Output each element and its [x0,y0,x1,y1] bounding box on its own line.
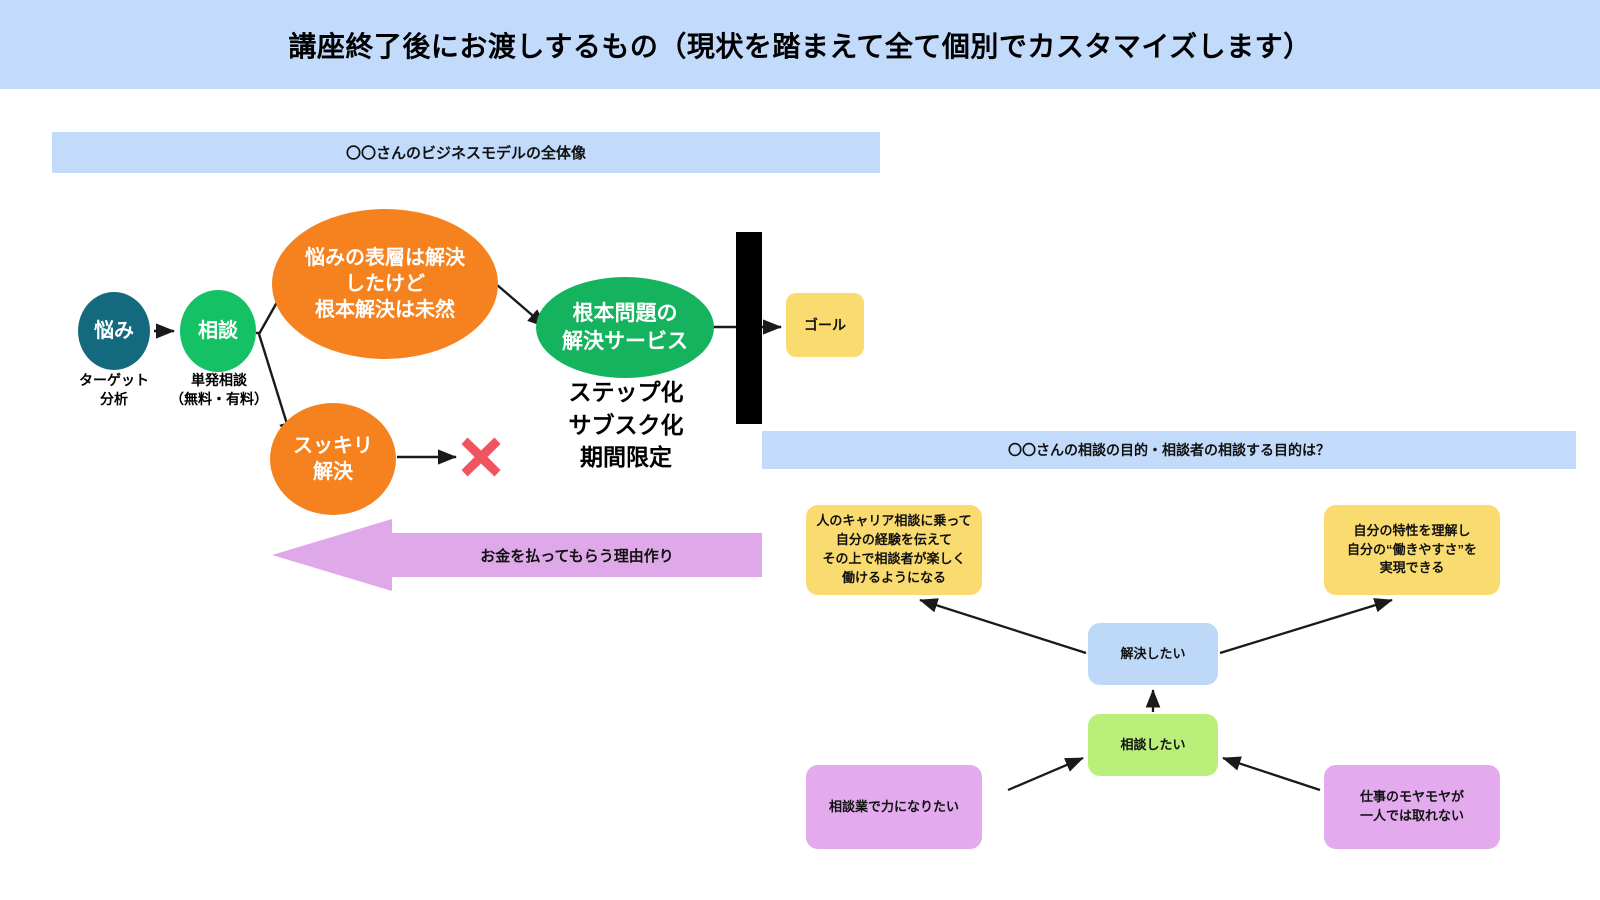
right-section-header-bar: 〇〇さんの相談の目的・相談者の相談する目的は？ [762,431,1576,469]
black-barrier-icon [736,232,762,424]
node-surface-problem[interactable]: 悩みの表層は解決 したけど 根本解決は未然 [272,209,498,359]
node-consult-label: 相談 [198,318,238,344]
edge-solve-to-career [920,600,1086,653]
left-section-header-label: 〇〇さんのビジネスモデルの全体像 [346,142,586,163]
node-clean-resolution[interactable]: スッキリ 解決 [270,403,396,515]
node-root-solution-service[interactable]: 根本問題の 解決サービス [536,277,714,378]
node-consult[interactable]: 相談 [180,290,256,372]
payment-reason-arrow-label: お金を払ってもらう理由作り [397,519,757,591]
node-worry[interactable]: 悩み [78,292,150,370]
edge-help-to-consult [1008,758,1083,790]
node-career-consulting[interactable]: 人のキャリア相談に乗って 自分の経験を伝えて その上で相談者が楽しく 働けるよう… [806,505,982,595]
left-section-header-bar: 〇〇さんのビジネスモデルの全体像 [52,132,880,173]
node-goal[interactable]: ゴール [786,293,864,357]
node-root-solution-service-caption: ステップ化 サブスク化 期間限定 [530,376,722,474]
page-title: 講座終了後にお渡しするもの（現状を踏まえて全て個別でカスタマイズします） [288,25,1311,65]
edge-solve-to-traits [1220,600,1392,653]
node-goal-label: ゴール [804,316,846,334]
node-want-to-help[interactable]: 相談業で力になりたい [806,765,982,849]
node-surface-problem-label: 悩みの表層は解決 したけど 根本解決は未然 [305,245,465,323]
red-x-icon [461,437,501,477]
node-clean-resolution-label: スッキリ 解決 [293,433,373,485]
right-section-header-label: 〇〇さんの相談の目的・相談者の相談する目的は？ [1008,440,1330,460]
payment-reason-arrow: お金を払ってもらう理由作り [272,519,762,591]
node-self-traits[interactable]: 自分の特性を理解し 自分の“働きやすさ”を 実現できる [1324,505,1500,595]
node-want-to-consult[interactable]: 相談したい [1088,714,1218,776]
node-consult-caption: 単発相談 （無料・有料） [162,371,276,409]
node-root-solution-service-label: 根本問題の 解決サービス [562,300,688,355]
slide-title-banner: 講座終了後にお渡しするもの（現状を踏まえて全て個別でカスタマイズします） [0,0,1600,89]
node-work-fog[interactable]: 仕事のモヤモヤが 一人では取れない [1324,765,1500,849]
node-worry-label: 悩み [94,318,134,344]
slide-canvas: 講座終了後にお渡しするもの（現状を踏まえて全て個別でカスタマイズします） 〇〇さ… [0,0,1600,900]
node-worry-caption: ターゲット 分析 [62,371,166,409]
edge-fog-to-consult [1223,758,1320,790]
node-want-to-solve[interactable]: 解決したい [1088,623,1218,685]
